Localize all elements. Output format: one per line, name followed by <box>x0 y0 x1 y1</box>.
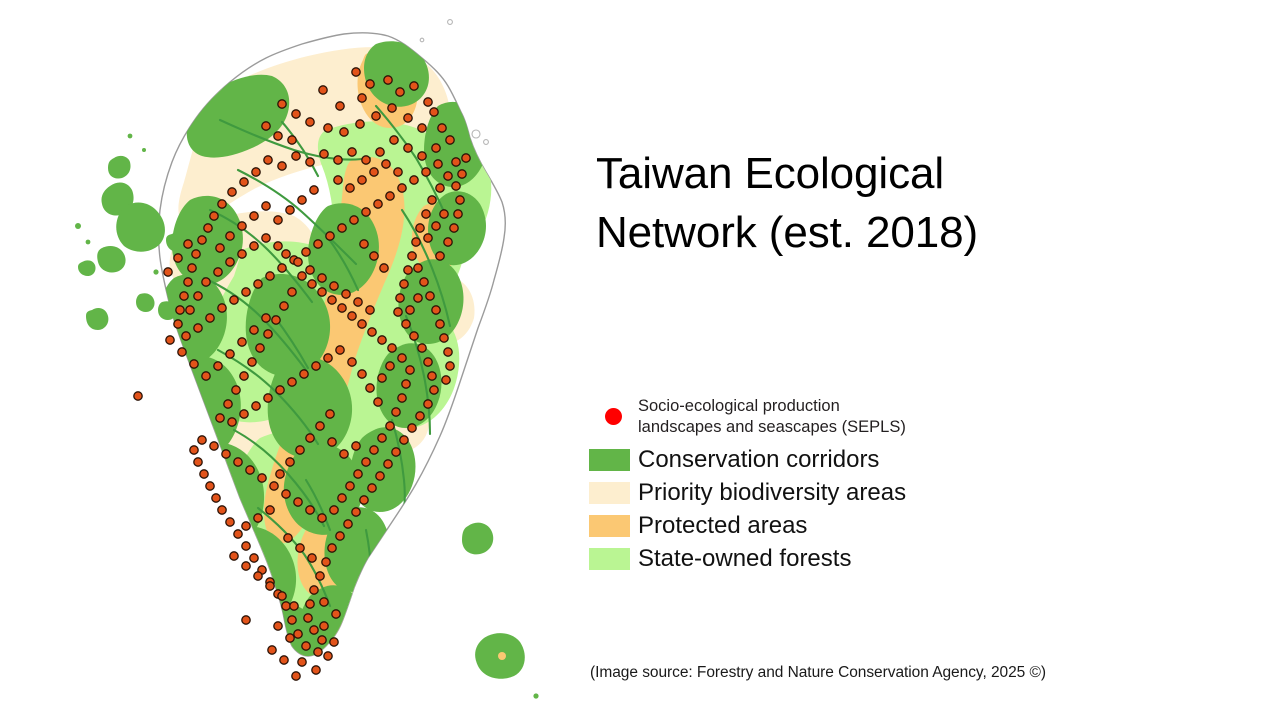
legend-marker-cell-priority-biodiversity-areas <box>589 482 638 504</box>
legend-label-sepls: Socio-ecological production landscapes a… <box>638 396 906 437</box>
legend-label-sepls-line1: Socio-ecological production <box>638 396 906 417</box>
legend-item-priority-biodiversity-areas: Priority biodiversity areas <box>589 477 1009 509</box>
legend-label-conservation-corridors: Conservation corridors <box>638 444 879 476</box>
legend-label-state-owned-forests: State-owned forests <box>638 543 851 575</box>
legend-item-sepls: Socio-ecological production landscapes a… <box>589 396 1009 437</box>
taiwan-map-svg <box>70 10 570 710</box>
legend-label-sepls-line2: landscapes and seascapes (SEPLS) <box>638 417 906 438</box>
legend-item-conservation-corridors: Conservation corridors <box>589 444 1009 476</box>
legend-marker-cell-protected-areas <box>589 515 638 537</box>
legend-item-protected-areas: Protected areas <box>589 510 1009 542</box>
image-source-caption: (Image source: Forestry and Nature Conse… <box>590 664 1046 682</box>
sepls-dot-icon <box>605 408 622 425</box>
legend-marker-cell-conservation-corridors <box>589 449 638 471</box>
conservation-corridors-swatch-icon <box>589 449 630 471</box>
legend-item-state-owned-forests: State-owned forests <box>589 543 1009 575</box>
legend-label-protected-areas: Protected areas <box>638 510 807 542</box>
map-legend: Socio-ecological production landscapes a… <box>589 396 1009 576</box>
slide-canvas: Taiwan Ecological Network (est. 2018) So… <box>0 0 1280 720</box>
legend-label-priority-biodiversity-areas: Priority biodiversity areas <box>638 477 906 509</box>
title-line-1: Taiwan Ecological <box>596 145 1026 204</box>
protected-areas-swatch-icon <box>589 515 630 537</box>
taiwan-map-figure <box>70 10 570 710</box>
legend-marker-cell-state-owned-forests <box>589 548 638 570</box>
priority-biodiversity-areas-swatch-icon <box>589 482 630 504</box>
map-offshore-east-islands <box>462 523 539 699</box>
page-title: Taiwan Ecological Network (est. 2018) <box>596 145 1026 262</box>
state-owned-forests-swatch-icon <box>589 548 630 570</box>
legend-marker-cell-sepls <box>589 408 638 425</box>
title-line-2: Network (est. 2018) <box>596 204 1026 263</box>
